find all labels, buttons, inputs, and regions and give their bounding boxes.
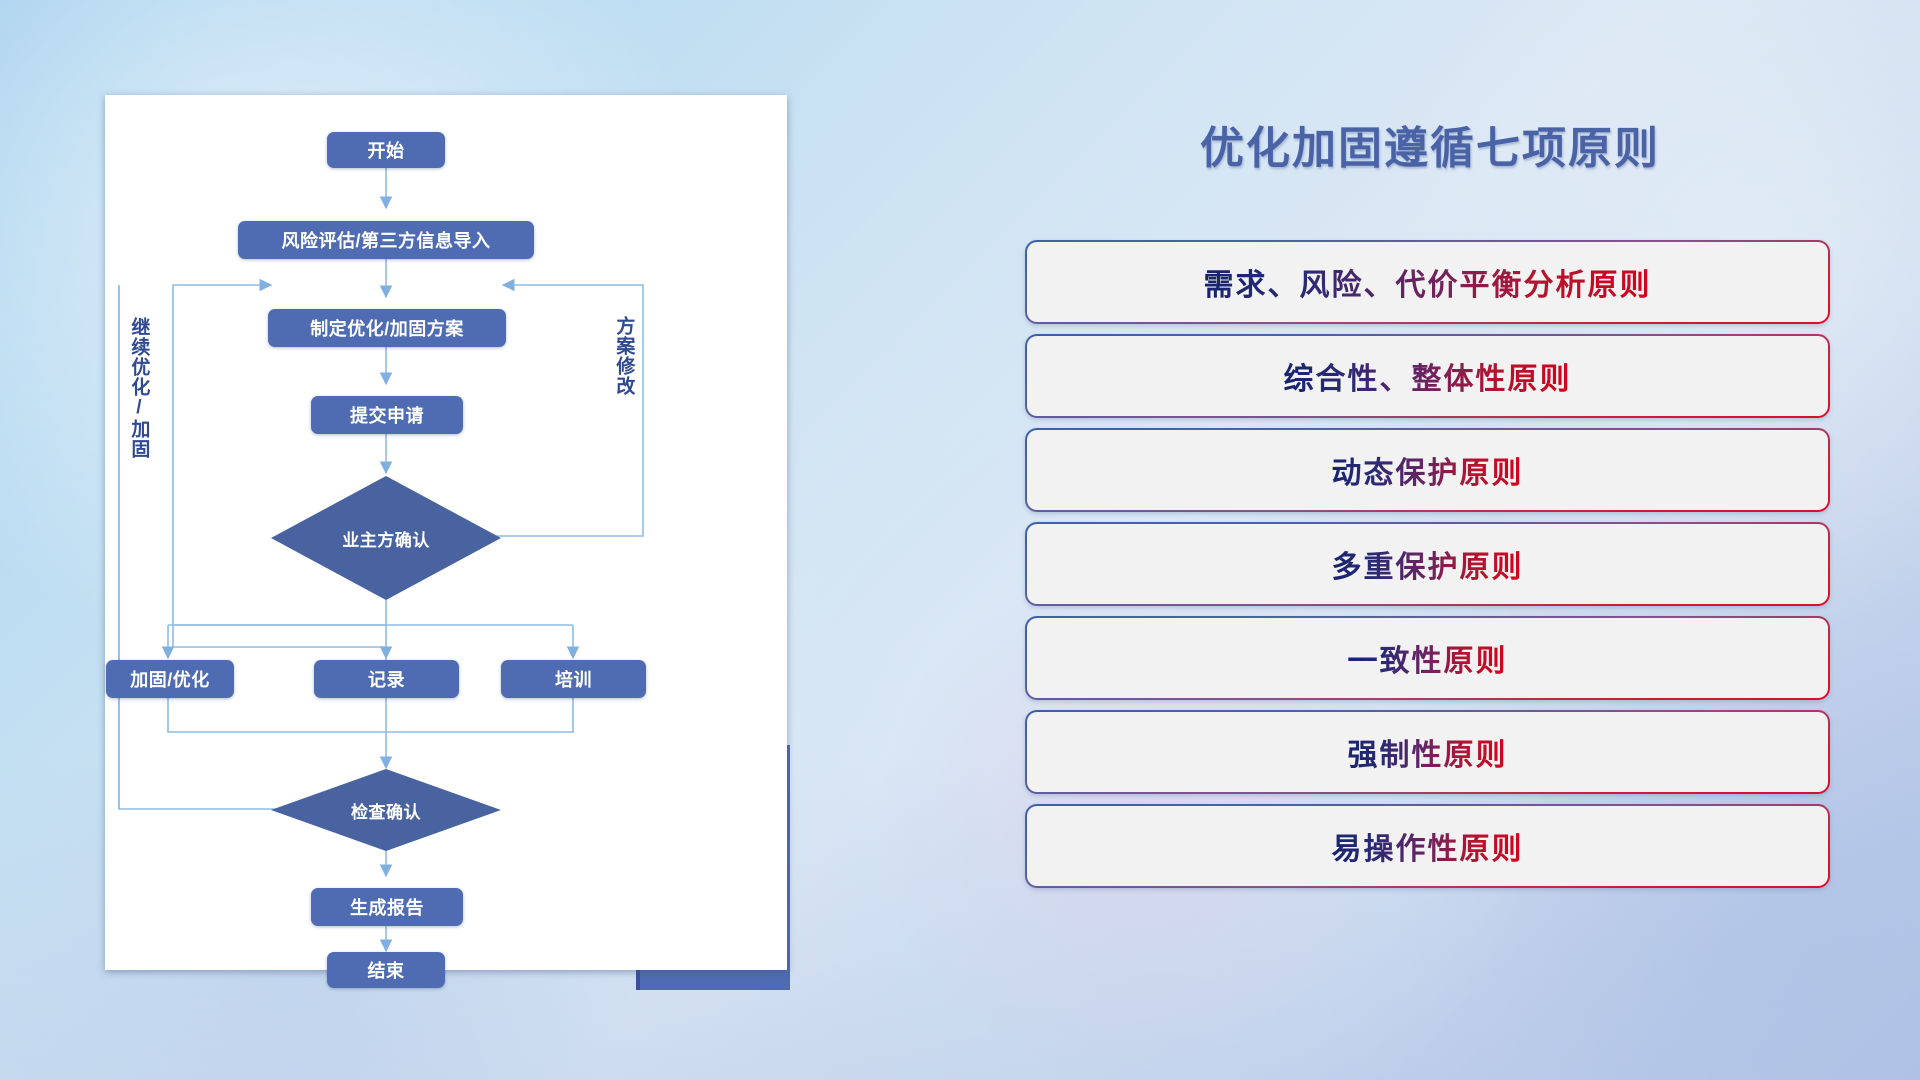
flow-node-submit[interactable]: 提交申请 — [311, 396, 463, 434]
flow-edge-label-left-loop: 继续优化/加固 — [129, 317, 148, 459]
principle-card-7-body: 易操作性原则 — [1027, 806, 1828, 886]
flow-node-submit-label: 提交申请 — [350, 402, 424, 428]
principle-card-2[interactable]: 综合性、整体性原则 — [1025, 334, 1830, 418]
flow-node-risk-assessment-label: 风险评估/第三方信息导入 — [282, 227, 491, 253]
flow-node-record[interactable]: 记录 — [314, 660, 459, 698]
flow-node-end[interactable]: 结束 — [327, 952, 445, 988]
flow-node-start-label: 开始 — [368, 137, 405, 163]
flowchart: 开始 风险评估/第三方信息导入 制定优化/加固方案 提交申请 业主方确认 加固/… — [105, 95, 787, 970]
principle-card-6-label: 强制性原则 — [1348, 730, 1508, 774]
flow-node-check-confirm[interactable]: 检查确认 — [271, 769, 501, 851]
principle-card-1-label: 需求、风险、代价平衡分析原则 — [1204, 260, 1652, 304]
flow-node-report-label: 生成报告 — [350, 894, 424, 920]
principle-card-3-body: 动态保护原则 — [1027, 430, 1828, 510]
principle-card-3[interactable]: 动态保护原则 — [1025, 428, 1830, 512]
principles-list: 需求、风险、代价平衡分析原则 综合性、整体性原则 动态保护原则 多重保护原则 一… — [1025, 240, 1830, 898]
flow-node-record-label: 记录 — [368, 666, 405, 692]
principle-card-7-label: 易操作性原则 — [1332, 824, 1524, 868]
flow-node-owner-confirm-label: 业主方确认 — [342, 526, 430, 551]
slide-canvas: 开始 风险评估/第三方信息导入 制定优化/加固方案 提交申请 业主方确认 加固/… — [0, 0, 1920, 1080]
flow-node-plan[interactable]: 制定优化/加固方案 — [268, 309, 506, 347]
flow-node-reinforce-label: 加固/优化 — [130, 666, 210, 692]
flow-node-reinforce[interactable]: 加固/优化 — [106, 660, 234, 698]
principle-card-3-label: 动态保护原则 — [1332, 448, 1524, 492]
flow-node-start[interactable]: 开始 — [327, 132, 445, 168]
flow-node-report[interactable]: 生成报告 — [311, 888, 463, 926]
page-title: 优化加固遵循七项原则 — [1020, 112, 1840, 176]
principle-card-4[interactable]: 多重保护原则 — [1025, 522, 1830, 606]
flow-node-training[interactable]: 培训 — [501, 660, 646, 698]
principle-card-2-label: 综合性、整体性原则 — [1284, 354, 1572, 398]
flow-node-plan-label: 制定优化/加固方案 — [310, 315, 464, 341]
flow-node-check-confirm-label: 检查确认 — [351, 798, 421, 823]
principle-card-7[interactable]: 易操作性原则 — [1025, 804, 1830, 888]
principle-card-2-body: 综合性、整体性原则 — [1027, 336, 1828, 416]
principle-card-6-body: 强制性原则 — [1027, 712, 1828, 792]
flow-node-training-label: 培训 — [555, 666, 592, 692]
principle-card-6[interactable]: 强制性原则 — [1025, 710, 1830, 794]
principle-card-1[interactable]: 需求、风险、代价平衡分析原则 — [1025, 240, 1830, 324]
principle-card-4-label: 多重保护原则 — [1332, 542, 1524, 586]
principle-card-5-body: 一致性原则 — [1027, 618, 1828, 698]
principle-card-1-body: 需求、风险、代价平衡分析原则 — [1027, 242, 1828, 322]
principle-card-4-body: 多重保护原则 — [1027, 524, 1828, 604]
flow-edge-label-right-loop: 方案修改 — [614, 316, 633, 396]
principle-card-5[interactable]: 一致性原则 — [1025, 616, 1830, 700]
flow-node-end-label: 结束 — [368, 957, 405, 983]
principle-card-5-label: 一致性原则 — [1348, 636, 1508, 680]
flow-node-risk-assessment[interactable]: 风险评估/第三方信息导入 — [238, 221, 534, 259]
flow-node-owner-confirm[interactable]: 业主方确认 — [271, 476, 501, 600]
